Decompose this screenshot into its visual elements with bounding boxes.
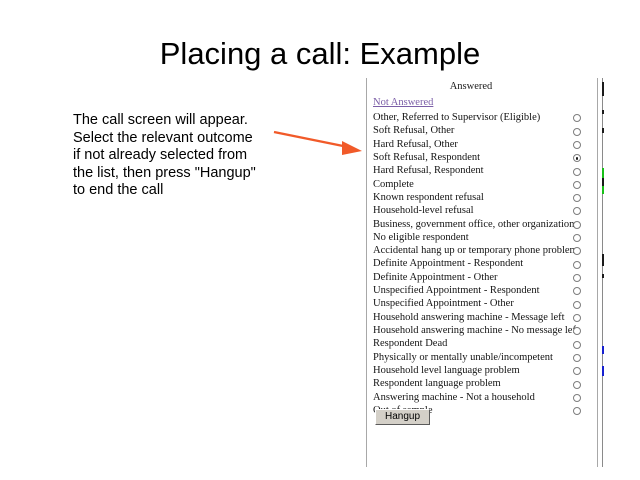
not-answered-link[interactable]: Not Answered — [373, 97, 433, 108]
outcome-row[interactable]: Answering machine - Not a household — [367, 391, 597, 404]
presentation-slide: Placing a call: Example The call screen … — [0, 0, 640, 480]
edge-mark-green — [602, 186, 604, 194]
outcome-radio-button[interactable] — [573, 301, 581, 309]
outcome-row[interactable]: Hard Refusal, Other — [367, 138, 597, 151]
outcome-radio-button[interactable] — [573, 181, 581, 189]
edge-mark — [602, 110, 604, 114]
outcome-radio-button[interactable] — [573, 194, 581, 202]
caption-line: Select the relevant outcome — [73, 130, 288, 148]
outcome-radio-button[interactable] — [573, 168, 581, 176]
outcome-row[interactable]: Definite Appointment - Other — [367, 271, 597, 284]
edge-mark-blue — [602, 346, 604, 354]
outcome-label: Unspecified Appointment - Respondent — [373, 284, 540, 297]
outcome-row[interactable]: Business, government office, other organ… — [367, 218, 597, 231]
outcome-row[interactable]: Hard Refusal, Respondent — [367, 164, 597, 177]
outcome-label: Soft Refusal, Respondent — [373, 151, 480, 164]
edge-mark — [602, 128, 604, 133]
outcome-radio-button[interactable] — [573, 407, 581, 415]
page-title: Placing a call: Example — [0, 36, 640, 72]
outcome-label: Other, Referred to Supervisor (Eligible) — [373, 111, 540, 124]
outcome-radio-button[interactable] — [573, 341, 581, 349]
outcome-row[interactable]: Known respondent refusal — [367, 191, 597, 204]
outcome-label: Household answering machine - No message… — [373, 324, 579, 337]
outcome-radio-button[interactable] — [573, 114, 581, 122]
call-screen-screenshot: Answered Not Answered Other, Referred to… — [366, 78, 598, 467]
outcome-radio-button[interactable] — [573, 287, 581, 295]
outcome-radio-button[interactable] — [573, 314, 581, 322]
outcome-row[interactable]: Household answering machine - No message… — [367, 324, 597, 337]
outcome-label: Business, government office, other organ… — [373, 218, 574, 231]
outcome-radio-button[interactable] — [573, 394, 581, 402]
outcome-row[interactable]: Soft Refusal, Other — [367, 124, 597, 137]
outcome-radio-button[interactable] — [573, 247, 581, 255]
outcome-label: Known respondent refusal — [373, 191, 484, 204]
outcome-label: No eligible respondent — [373, 231, 469, 244]
outcome-label: Definite Appointment - Respondent — [373, 257, 523, 270]
outcome-row[interactable]: Unspecified Appointment - Respondent — [367, 284, 597, 297]
outcome-row[interactable]: Household-level refusal — [367, 204, 597, 217]
outcome-radio-button[interactable] — [573, 327, 581, 335]
outcome-label: Unspecified Appointment - Other — [373, 297, 514, 310]
outcome-radio-button[interactable] — [573, 381, 581, 389]
caption-line: if not already selected from — [73, 147, 288, 165]
outcome-row[interactable]: Accidental hang up or temporary phone pr… — [367, 244, 597, 257]
outcome-radio-button[interactable] — [573, 234, 581, 242]
answered-section-header: Answered — [367, 81, 575, 92]
outcome-radio-button[interactable] — [573, 141, 581, 149]
outcome-row[interactable]: Complete — [367, 178, 597, 191]
outcome-label: Hard Refusal, Respondent — [373, 164, 484, 177]
outcome-label: Household level language problem — [373, 364, 520, 377]
outcome-row[interactable]: Definite Appointment - Respondent — [367, 257, 597, 270]
outcome-label: Respondent Dead — [373, 337, 447, 350]
edge-mark — [602, 254, 604, 266]
edge-mark — [602, 274, 604, 278]
outcome-row[interactable]: Respondent language problem — [367, 377, 597, 390]
outcome-label: Definite Appointment - Other — [373, 271, 498, 284]
call-outcome-list: Other, Referred to Supervisor (Eligible)… — [367, 111, 597, 417]
edge-mark-blue — [602, 366, 604, 376]
outcome-radio-button[interactable] — [573, 261, 581, 269]
outcome-row[interactable]: Household level language problem — [367, 364, 597, 377]
caption-text-block: The call screen will appear. Select the … — [73, 112, 288, 200]
outcome-row[interactable]: Respondent Dead — [367, 337, 597, 350]
outcome-row[interactable]: No eligible respondent — [367, 231, 597, 244]
outcome-radio-button[interactable] — [573, 354, 581, 362]
outcome-label: Answering machine - Not a household — [373, 391, 535, 404]
outcome-label: Hard Refusal, Other — [373, 138, 458, 151]
outcome-row[interactable]: Physically or mentally unable/incompeten… — [367, 351, 597, 364]
outcome-label: Respondent language problem — [373, 377, 501, 390]
caption-line: the list, then press "Hangup" — [73, 165, 288, 183]
hangup-button[interactable]: Hangup — [375, 409, 430, 425]
outcome-label: Physically or mentally unable/incompeten… — [373, 351, 553, 364]
outcome-radio-button[interactable] — [573, 154, 581, 162]
caption-line: The call screen will appear. — [73, 112, 288, 130]
edge-mark — [602, 82, 604, 96]
outcome-row[interactable]: Other, Referred to Supervisor (Eligible) — [367, 111, 597, 124]
outcome-label: Household-level refusal — [373, 204, 474, 217]
outcome-row[interactable]: Soft Refusal, Respondent — [367, 151, 597, 164]
caption-line: to end the call — [73, 182, 288, 200]
outcome-label: Household answering machine - Message le… — [373, 311, 565, 324]
outcome-radio-button[interactable] — [573, 128, 581, 136]
outcome-radio-button[interactable] — [573, 274, 581, 282]
outcome-label: Complete — [373, 178, 414, 191]
outcome-row[interactable]: Household answering machine - Message le… — [367, 311, 597, 324]
outcome-radio-button[interactable] — [573, 367, 581, 375]
outcome-radio-button[interactable] — [573, 221, 581, 229]
outcome-radio-button[interactable] — [573, 207, 581, 215]
outcome-row[interactable]: Unspecified Appointment - Other — [367, 297, 597, 310]
outcome-label: Soft Refusal, Other — [373, 124, 454, 137]
outcome-label: Accidental hang up or temporary phone pr… — [373, 244, 578, 257]
edge-line — [602, 78, 603, 467]
window-edge-sliver — [600, 78, 606, 467]
